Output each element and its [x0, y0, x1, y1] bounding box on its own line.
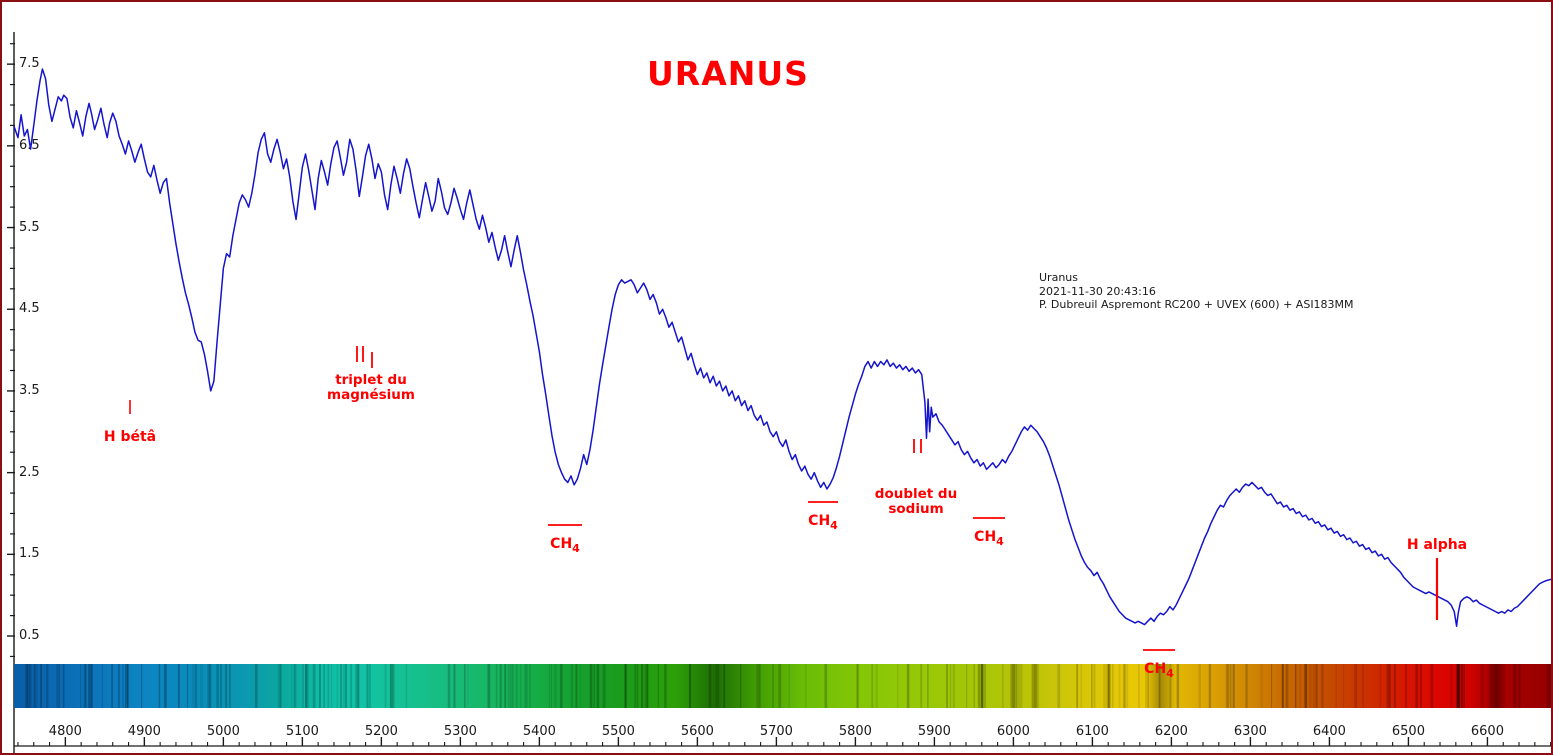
spectrum-plot-canvas	[2, 2, 1553, 755]
annotation-text: doublet du	[826, 487, 1006, 502]
metadata-datetime: 2021-11-30 20:43:16	[1039, 285, 1354, 299]
x-axis-tick-label: 6600	[1457, 724, 1517, 739]
spectrum-curve	[14, 69, 1553, 626]
observation-metadata: Uranus 2021-11-30 20:43:16 P. Dubreuil A…	[1039, 271, 1354, 312]
annotation-text-second-line: sodium	[826, 502, 1006, 517]
annotation-na-doublet: doublet dusodium	[826, 487, 1006, 517]
y-axis-tick-label: 4.5	[19, 301, 40, 316]
x-axis-tick-label: 5600	[667, 724, 727, 739]
x-axis-tick-label: 5400	[509, 724, 569, 739]
x-axis-tick-label: 6000	[983, 724, 1043, 739]
x-axis-tick-label: 6300	[1220, 724, 1280, 739]
annotation-ch4-5430: CH4	[475, 537, 655, 556]
y-axis-tick-label: 3.5	[19, 383, 40, 398]
annotation-text: H alpha	[1347, 538, 1527, 553]
y-axis-tick-label: 6.5	[19, 138, 40, 153]
annotation-subscript: 4	[572, 542, 580, 555]
x-axis-tick-label: 4800	[35, 724, 95, 739]
metadata-object: Uranus	[1039, 271, 1354, 285]
x-axis-tick-label: 5300	[430, 724, 490, 739]
x-axis-tick-label: 5100	[272, 724, 332, 739]
x-axis-tick-label: 5900	[904, 724, 964, 739]
annotation-text: CH	[550, 536, 572, 552]
spectrum-chart-window: URANUS Uranus 2021-11-30 20:43:16 P. Dub…	[0, 0, 1553, 755]
annotation-text: CH	[1144, 661, 1166, 677]
annotation-h-alpha: H alpha	[1347, 538, 1527, 553]
x-axis-tick-label: 6500	[1378, 724, 1438, 739]
annotation-subscript: 4	[830, 519, 838, 532]
annotation-ch4-6190: CH4	[1069, 662, 1249, 681]
x-axis-tick-label: 5000	[193, 724, 253, 739]
y-axis-tick-label: 0.5	[19, 628, 40, 643]
axes	[7, 32, 1553, 754]
x-axis-tick-label: 5800	[825, 724, 885, 739]
annotation-text: CH	[974, 529, 996, 545]
x-axis-tick-label: 5500	[588, 724, 648, 739]
y-axis-tick-label: 1.5	[19, 546, 40, 561]
annotation-h-beta: H bétâ	[40, 430, 220, 445]
x-axis-tick-label: 6200	[1141, 724, 1201, 739]
x-axis-tick-label: 6400	[1299, 724, 1359, 739]
metadata-observer: P. Dubreuil Aspremont RC200 + UVEX (600)…	[1039, 298, 1354, 312]
x-axis-tick-label: 6100	[1062, 724, 1122, 739]
y-axis-tick-label: 5.5	[19, 220, 40, 235]
annotation-subscript: 4	[996, 535, 1004, 548]
annotation-mg-triplet: triplet dumagnésium	[281, 373, 461, 403]
page-title: URANUS	[647, 54, 809, 93]
annotation-text: triplet du	[281, 373, 461, 388]
y-axis-tick-label: 2.5	[19, 465, 40, 480]
x-axis-tick-label: 5700	[746, 724, 806, 739]
annotation-text-second-line: magnésium	[281, 388, 461, 403]
x-axis-tick-label: 5200	[351, 724, 411, 739]
x-axis-tick-label: 4900	[114, 724, 174, 739]
annotation-text: H bétâ	[40, 430, 220, 445]
annotation-subscript: 4	[1166, 667, 1174, 680]
annotation-ch4-5970: CH4	[899, 530, 1079, 549]
y-axis-tick-label: 7.5	[19, 56, 40, 71]
